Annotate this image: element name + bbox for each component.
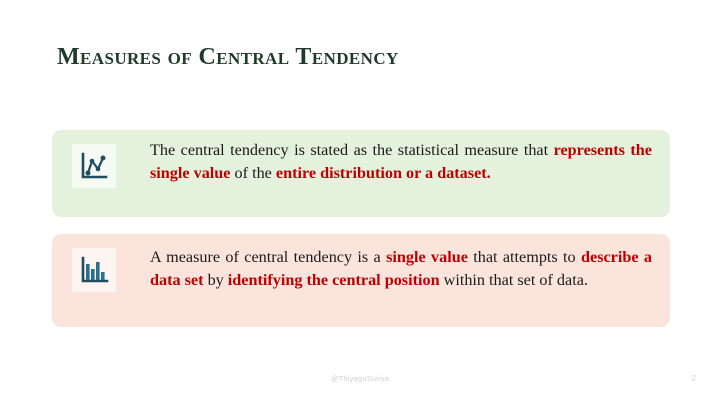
- text-segment-plain: of the: [231, 164, 276, 182]
- page-title: Measures of Central Tendency: [57, 44, 399, 71]
- card-body-text: The central tendency is stated as the st…: [150, 139, 652, 185]
- page-number: 2: [691, 373, 696, 383]
- content-card-measure-of-central-tendency: A measure of central tendency is a singl…: [52, 234, 670, 327]
- bar-chart-icon: [72, 248, 116, 292]
- card-body-text: A measure of central tendency is a singl…: [150, 246, 652, 292]
- text-segment-highlight: identifying the central position: [228, 271, 440, 289]
- content-card-central-tendency-definition: The central tendency is stated as the st…: [52, 130, 670, 217]
- text-segment-plain: by: [204, 271, 228, 289]
- text-segment-highlight: entire distribution or a dataset.: [276, 164, 491, 182]
- slide-canvas: Measures of Central Tendency The centr: [0, 0, 720, 404]
- footer-handle: @ThiyaguSuriya: [0, 374, 720, 383]
- text-segment-plain: that attempts to: [468, 248, 581, 266]
- text-segment-highlight: single value: [386, 248, 468, 266]
- text-segment-plain: within that set of data.: [440, 271, 588, 289]
- text-segment-plain: A measure of central tendency is a: [150, 248, 386, 266]
- text-segment-plain: The central tendency is stated as the st…: [150, 141, 554, 159]
- line-chart-icon: [72, 144, 116, 188]
